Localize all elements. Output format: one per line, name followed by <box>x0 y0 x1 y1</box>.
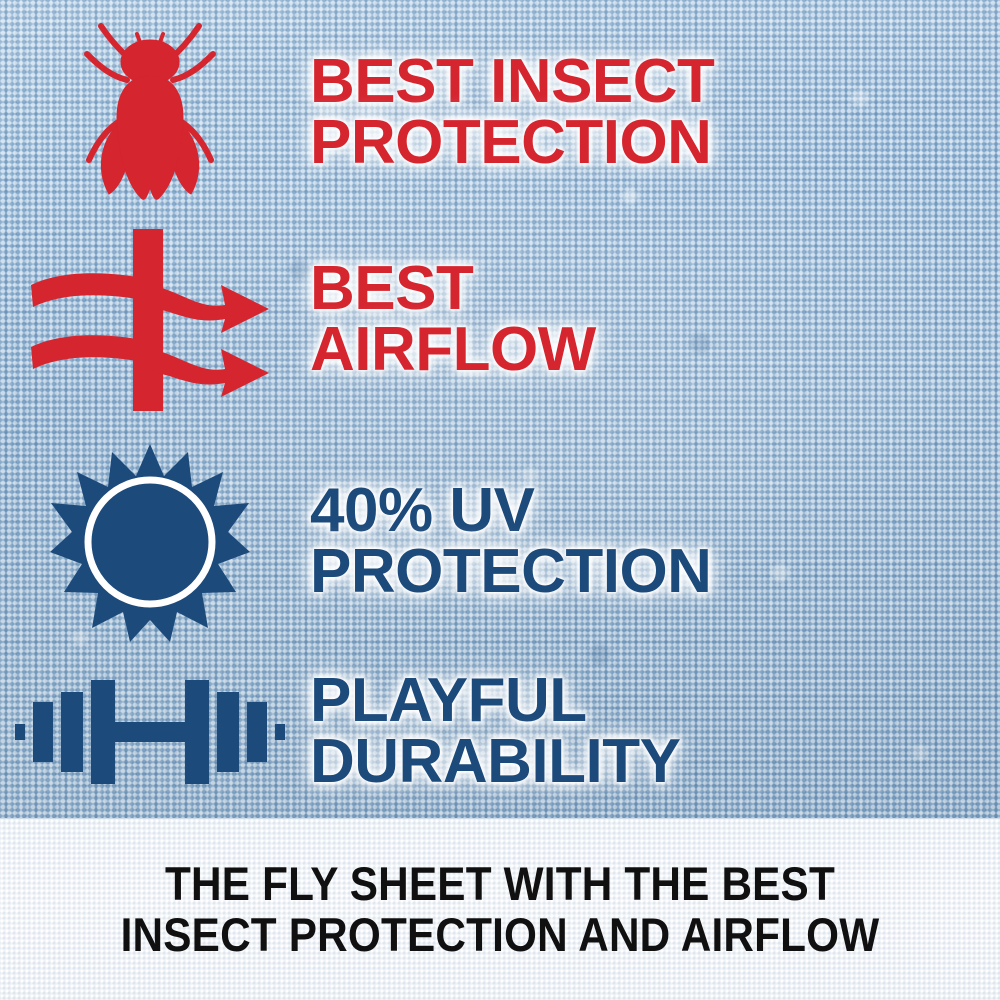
feature-row-durability: PLAYFUL DURABILITY <box>0 646 1000 818</box>
feature-label-insect-protection: BEST INSECT PROTECTION <box>310 52 1000 174</box>
airflow-arrows-icon <box>25 225 275 415</box>
feature-label-cell: PLAYFUL DURABILITY <box>300 671 1000 793</box>
feature-label-durability: PLAYFUL DURABILITY <box>310 671 1000 793</box>
dumbbell-icon <box>15 672 285 792</box>
feature-row-insect-protection: BEST INSECT PROTECTION <box>0 14 1000 212</box>
feature-label-cell: BEST INSECT PROTECTION <box>300 52 1000 174</box>
feature-label-uv-protection: 40% UV PROTECTION <box>310 481 1000 603</box>
feature-row-airflow: BEST AIRFLOW <box>0 222 1000 418</box>
feature-label-airflow: BEST AIRFLOW <box>310 259 1000 381</box>
feature-label-cell: BEST AIRFLOW <box>300 259 1000 381</box>
product-feature-infographic: BEST INSECT PROTECTION <box>0 0 1000 1000</box>
feature-label-cell: 40% UV PROTECTION <box>300 481 1000 603</box>
sun-uv-icon <box>50 442 250 642</box>
feature-icon-cell <box>0 672 300 792</box>
caption-band: THE FLY SHEET WITH THE BEST INSECT PROTE… <box>0 818 1000 1000</box>
feature-icon-cell <box>0 225 300 415</box>
fly-icon <box>75 18 225 208</box>
caption-headline: THE FLY SHEET WITH THE BEST INSECT PROTE… <box>50 859 950 960</box>
feature-row-uv-protection: 40% UV PROTECTION <box>0 438 1000 646</box>
feature-icon-cell <box>0 442 300 642</box>
feature-icon-cell <box>0 18 300 208</box>
